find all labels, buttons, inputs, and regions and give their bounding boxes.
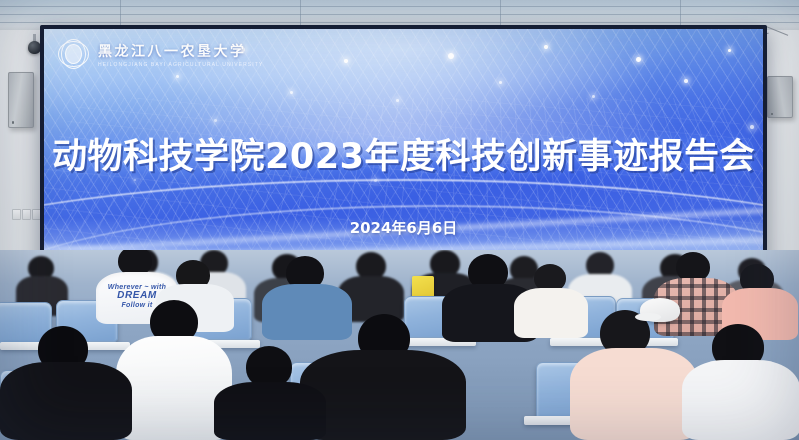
- university-name-en: HEILONGJIANG BAYI AGRICULTURAL UNIVERSIT…: [98, 62, 263, 68]
- led-display-screen: 黑龙江八一农垦大学 HEILONGJIANG BAYI AGRICULTURAL…: [40, 25, 767, 287]
- university-name-cn: 黑龙江八一农垦大学: [98, 41, 263, 61]
- university-crest-icon: [58, 39, 90, 69]
- slide-main-title: 动物科技学院2023年度科技创新事迹报告会: [44, 128, 763, 179]
- white-cap: [640, 298, 680, 322]
- audience-area: Wherever ~ with DREAM Follow it: [0, 250, 799, 440]
- slide-header: 黑龙江八一农垦大学 HEILONGJIANG BAYI AGRICULTURAL…: [58, 39, 263, 69]
- slide-date: 2024年6月6日: [44, 217, 763, 238]
- shirt-text-bottom: Follow it: [121, 302, 152, 309]
- lecture-hall-photo: 黑龙江八一农垦大学 HEILONGJIANG BAYI AGRICULTURAL…: [0, 0, 799, 440]
- wall-speaker-left: [8, 72, 34, 128]
- wall-speaker-right: [767, 76, 793, 118]
- slide-content: 黑龙江八一农垦大学 HEILONGJIANG BAYI AGRICULTURAL…: [44, 29, 763, 283]
- university-name-block: 黑龙江八一农垦大学 HEILONGJIANG BAYI AGRICULTURAL…: [98, 41, 263, 68]
